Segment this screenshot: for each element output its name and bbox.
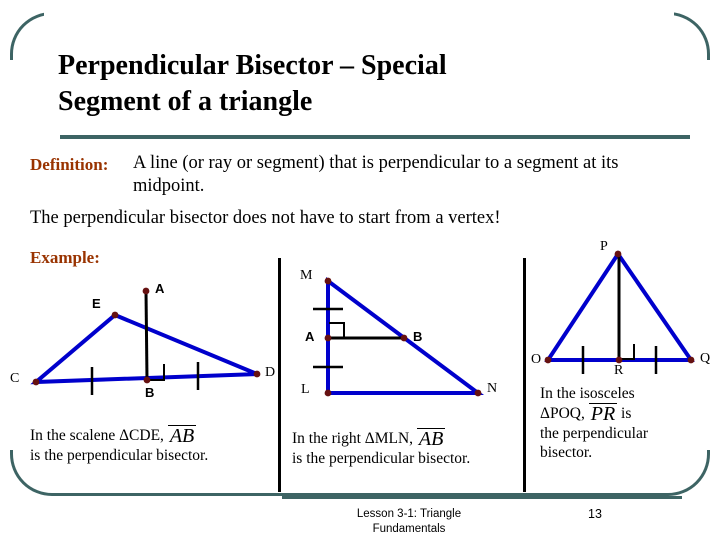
- vertex-dot-q: [688, 357, 695, 364]
- vertex-label-b: B: [413, 329, 422, 344]
- definition-note: The perpendicular bisector does not have…: [30, 208, 700, 229]
- vertex-label-d: D: [265, 365, 275, 381]
- diagram-isosceles-poq: [535, 240, 715, 380]
- frame-mask-top: [44, 10, 674, 16]
- right-angle-marker-a: [329, 323, 344, 337]
- vertex-label-r: R: [614, 363, 623, 379]
- title-underline-rule: [60, 135, 690, 139]
- vertex-label-c: C: [10, 371, 19, 387]
- caption-isosceles-part2: is: [621, 405, 631, 422]
- diagram-scalene-cde: [0, 255, 280, 405]
- vertex-dot-a: [143, 288, 150, 295]
- footer-rule: [282, 496, 682, 499]
- caption-isosceles: In the isosceles ΔPOQ, PR is the perpend…: [540, 385, 705, 462]
- vertex-dot-m: [325, 278, 332, 285]
- vertex-dot-a: [325, 335, 332, 342]
- vertex-dot-p: [615, 251, 622, 258]
- vertex-label-m: M: [300, 268, 312, 284]
- diagram-right-mln: [290, 265, 505, 410]
- column-divider-2: [523, 258, 526, 492]
- caption-right-segment: AB: [417, 428, 445, 450]
- vertex-label-a: A: [305, 329, 314, 344]
- caption-isosceles-part1: In the isosceles: [540, 385, 635, 402]
- caption-isosceles-part4: bisector.: [540, 444, 592, 461]
- page-title-line-2: Segment of a triangle: [58, 84, 668, 120]
- vertex-label-e: E: [92, 296, 101, 311]
- footer-lesson-line-2: Fundamentals: [314, 522, 504, 537]
- vertex-label-b: B: [145, 385, 154, 400]
- caption-scalene-segment: AB: [168, 425, 196, 447]
- vertex-label-p: P: [600, 239, 608, 255]
- caption-right: In the right ΔMLN, AB is the perpendicul…: [292, 428, 522, 468]
- vertex-dot-e: [112, 312, 119, 319]
- segment-ab-bisector: [146, 291, 147, 380]
- caption-isosceles-part3: the perpendicular: [540, 425, 648, 442]
- definition-body: A line (or ray or segment) that is perpe…: [133, 152, 693, 198]
- caption-isosceles-triangle: ΔPOQ,: [540, 405, 585, 422]
- page-title: Perpendicular Bisector – Special Segment…: [58, 48, 668, 120]
- definition-label: Definition:: [30, 155, 108, 175]
- vertex-label-n: N: [487, 381, 497, 397]
- footer-page-number: 13: [588, 507, 602, 521]
- vertex-dot-l: [325, 390, 332, 397]
- caption-scalene: In the scalene ΔCDE, AB is the perpendic…: [30, 425, 275, 465]
- caption-right-part2: is the perpendicular bisector.: [292, 450, 470, 467]
- vertex-dot-o: [545, 357, 552, 364]
- vertex-dot-b: [144, 377, 151, 384]
- vertex-dot-n: [475, 390, 482, 397]
- footer-lesson-line-1: Lesson 3-1: Triangle: [314, 507, 504, 522]
- footer-lesson-text: Lesson 3-1: Triangle Fundamentals: [314, 507, 504, 536]
- caption-right-part1: In the right ΔMLN,: [292, 430, 413, 447]
- caption-scalene-part2: is the perpendicular bisector.: [30, 447, 208, 464]
- vertex-dot-c: [33, 379, 40, 386]
- caption-scalene-part1: In the scalene ΔCDE,: [30, 427, 164, 444]
- vertex-label-a: A: [155, 281, 164, 296]
- vertex-dot-d: [254, 371, 261, 378]
- vertex-label-o: O: [531, 352, 541, 368]
- page-title-line-1: Perpendicular Bisector – Special: [58, 48, 668, 84]
- vertex-label-l: L: [301, 382, 310, 398]
- vertex-dot-b: [401, 335, 408, 342]
- caption-isosceles-segment: PR: [589, 403, 617, 425]
- slide-canvas: Perpendicular Bisector – Special Segment…: [0, 0, 720, 540]
- vertex-label-q: Q: [700, 351, 710, 367]
- right-angle-marker-r: [620, 344, 634, 359]
